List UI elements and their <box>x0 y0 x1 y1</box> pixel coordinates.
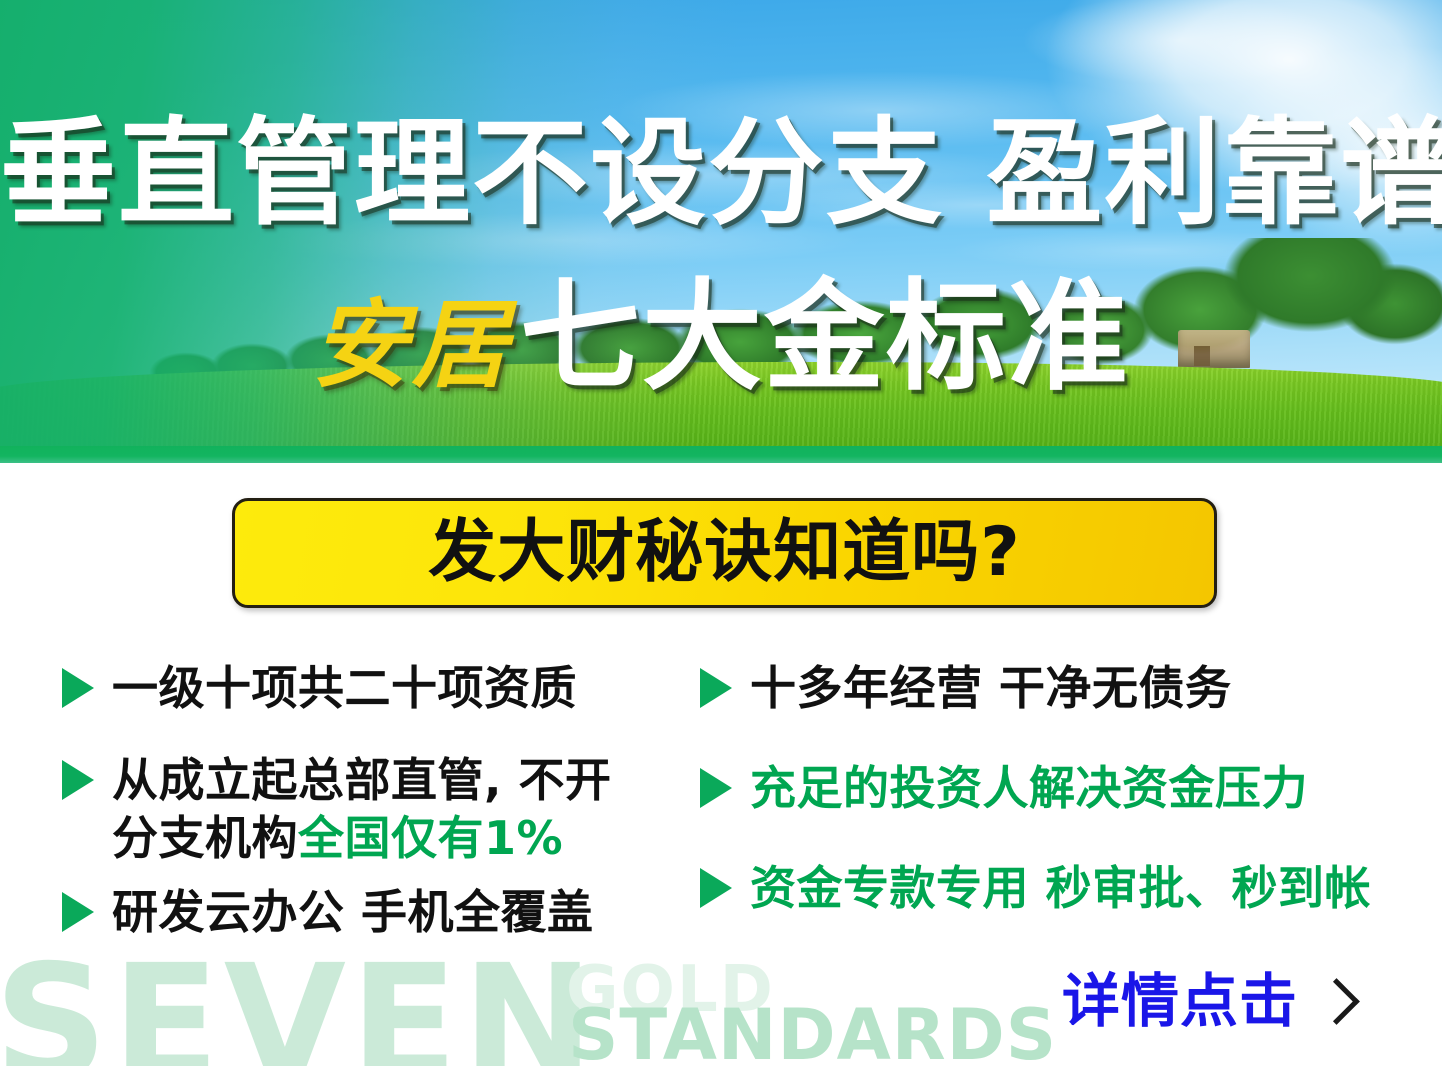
promo-poster: 垂直管理不设分支 盈利靠谱 安居七大金标准 发大财秘诀知道吗? 一级十项共二十项… <box>0 0 1442 1066</box>
feature-text-highlight: 全国仅有1% <box>298 811 563 865</box>
hero-banner: 垂直管理不设分支 盈利靠谱 安居七大金标准 <box>0 0 1442 463</box>
feature-item-qualifications: 一级十项共二十项资质 <box>62 660 682 718</box>
feature-item-investors: 充足的投资人解决资金压力 <box>700 760 1400 818</box>
feature-text: 资金专款专用 秒审批、秒到帐 <box>750 860 1371 918</box>
feature-item-dedicated-funds: 资金专款专用 秒审批、秒到帐 <box>700 860 1400 918</box>
feature-list: 一级十项共二十项资质 从成立起总部直管, 不开 分支机构全国仅有1% 研发云办公… <box>0 660 1442 990</box>
feature-column-right: 十多年经营 干净无债务 充足的投资人解决资金压力 资金专款专用 秒审批、秒到帐 <box>700 660 1400 944</box>
chevron-right-icon <box>1313 978 1360 1025</box>
feature-text: 研发云办公 手机全覆盖 <box>112 884 594 942</box>
triangle-bullet-icon <box>700 768 732 808</box>
triangle-bullet-icon <box>62 760 94 800</box>
hero-brand-name: 安居 <box>312 289 512 401</box>
triangle-bullet-icon <box>62 892 94 932</box>
feature-column-left: 一级十项共二十项资质 从成立起总部直管, 不开 分支机构全国仅有1% 研发云办公… <box>62 660 682 968</box>
feature-item-ten-years: 十多年经营 干净无债务 <box>700 660 1400 718</box>
triangle-bullet-icon <box>700 668 732 708</box>
feature-item-headquarters-direct: 从成立起总部直管, 不开 分支机构全国仅有1% <box>62 752 682 868</box>
feature-text: 充足的投资人解决资金压力 <box>750 760 1308 818</box>
feature-text: 一级十项共二十项资质 <box>112 660 577 718</box>
hero-bottom-green-bar <box>0 446 1442 463</box>
feature-text: 十多年经营 干净无债务 <box>750 660 1232 718</box>
question-banner[interactable]: 发大财秘诀知道吗? <box>232 498 1217 608</box>
feature-text-line1: 从成立起总部直管, 不开 <box>112 753 612 807</box>
hero-headline-primary: 垂直管理不设分支 盈利靠谱 <box>0 116 1442 232</box>
hero-headline-secondary: 安居七大金标准 <box>0 278 1442 398</box>
details-cta-button[interactable]: 详情点击 <box>1062 972 1353 1030</box>
feature-text: 从成立起总部直管, 不开 分支机构全国仅有1% <box>112 752 612 868</box>
feature-item-cloud-office: 研发云办公 手机全覆盖 <box>62 884 682 942</box>
hero-headline-secondary-main: 七大金标准 <box>520 268 1130 407</box>
triangle-bullet-icon <box>700 868 732 908</box>
question-banner-label: 发大财秘诀知道吗? <box>428 519 1020 587</box>
triangle-bullet-icon <box>62 668 94 708</box>
details-cta-label: 详情点击 <box>1062 972 1298 1030</box>
feature-text-line2: 分支机构 <box>112 811 298 865</box>
watermark-standards: STANDARDS <box>568 1000 1057 1066</box>
